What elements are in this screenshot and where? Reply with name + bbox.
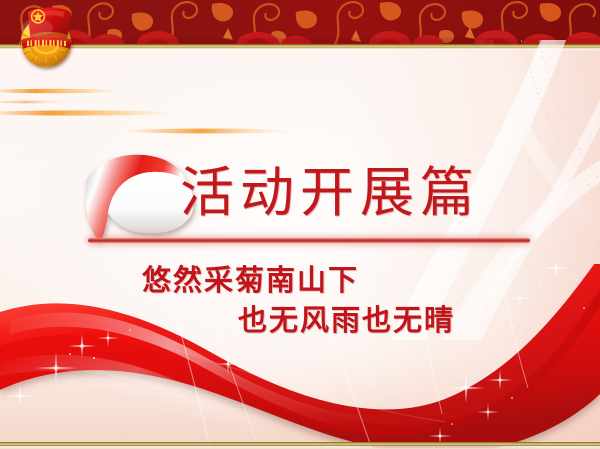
page-title: 活动开展篇 xyxy=(180,162,480,224)
communist-youth-league-emblem-icon xyxy=(12,4,84,72)
presentation-slide: 活动开展篇 悠然采菊南山下 也无风雨也无晴 xyxy=(0,0,600,449)
red-silk-ribbon-wave-icon xyxy=(0,264,600,449)
title-divider-rule xyxy=(88,238,530,243)
